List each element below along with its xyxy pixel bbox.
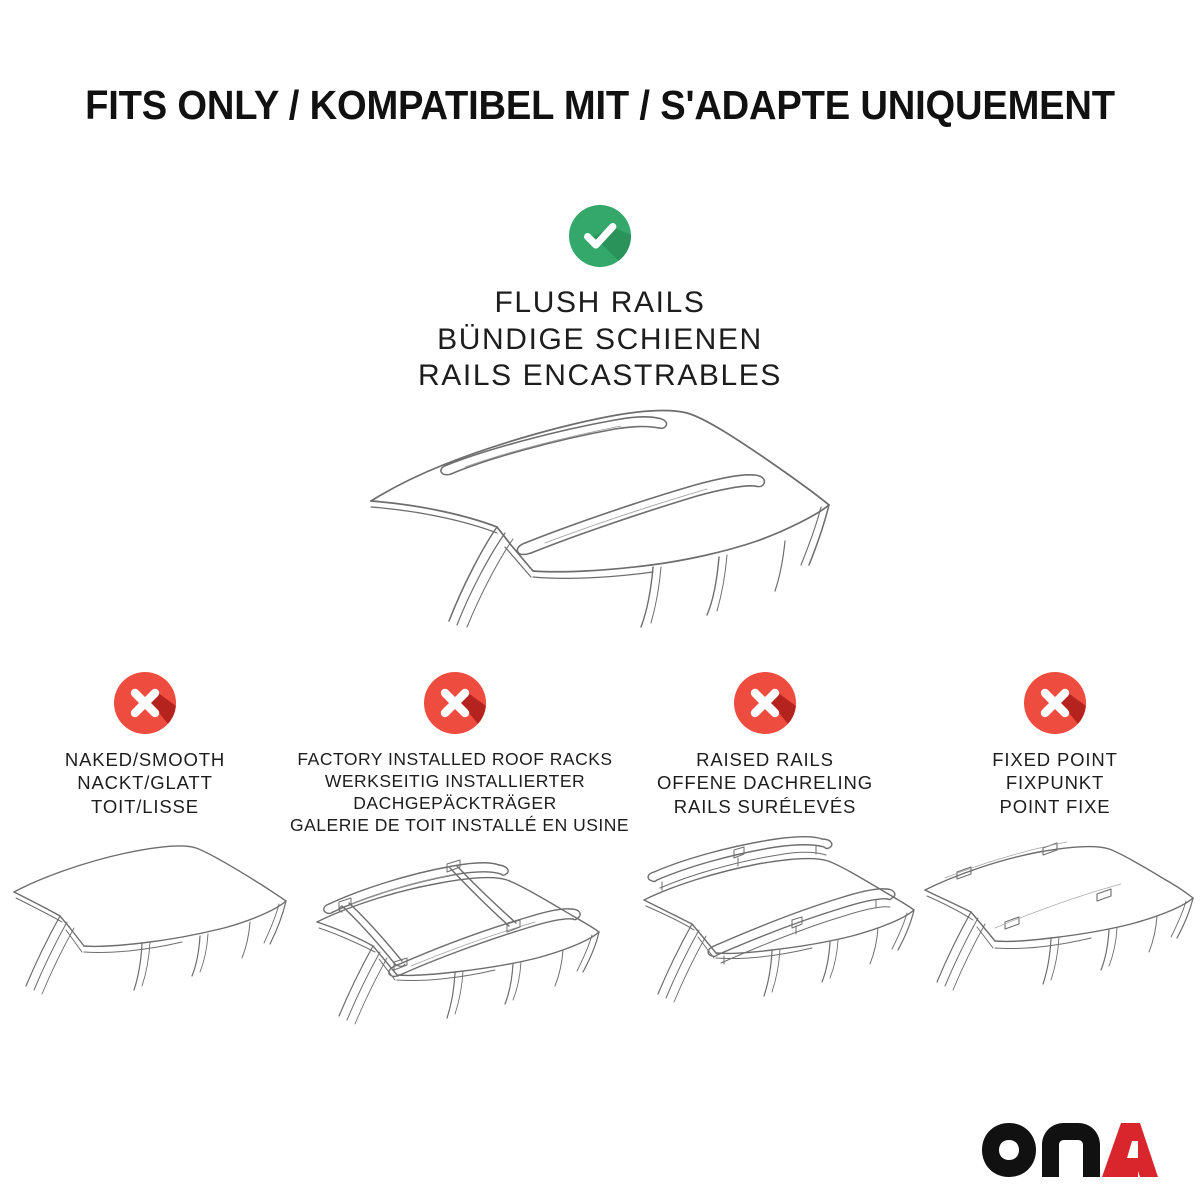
caption-line: DACHGEPÄCKTRÄGER (290, 792, 620, 814)
caption-line: TOIT/LISSE (0, 795, 290, 818)
car-roof-flush-rails-illustration (365, 395, 835, 635)
compatible-section: FLUSH RAILS BÜNDIGE SCHIENEN RAILS ENCAS… (0, 205, 1200, 395)
incompatible-caption-raised-rails: RAISED RAILS OFFENE DACHRELING RAILS SUR… (620, 748, 910, 818)
green-check-circle-icon (569, 205, 631, 267)
compatible-line-3: RAILS ENCASTRABLES (0, 358, 1200, 395)
compatible-line-1: FLUSH RAILS (0, 285, 1200, 322)
incompatible-column-factory-racks: FACTORY INSTALLED ROOF RACKS WERKSEITIG … (290, 672, 620, 1046)
compatible-caption: FLUSH RAILS BÜNDIGE SCHIENEN RAILS ENCAS… (0, 285, 1200, 395)
red-x-circle-icon (424, 672, 486, 734)
caption-line: FACTORY INSTALLED ROOF RACKS (290, 748, 620, 770)
incompatible-caption-factory-racks: FACTORY INSTALLED ROOF RACKS WERKSEITIG … (290, 748, 620, 836)
caption-line: NACKT/GLATT (0, 771, 290, 794)
red-x-circle-icon (1024, 672, 1086, 734)
caption-line: OFFENE DACHRELING (620, 771, 910, 794)
car-roof-fixed-point-illustration (910, 828, 1200, 1028)
red-x-circle-icon (114, 672, 176, 734)
compatible-line-2: BÜNDIGE SCHIENEN (0, 322, 1200, 359)
car-roof-naked-smooth-illustration (0, 828, 290, 1028)
car-roof-raised-rails-illustration (620, 828, 910, 1028)
omac-logo: OMAC (980, 1122, 1158, 1178)
caption-line: RAILS SURÉLEVÉS (620, 795, 910, 818)
caption-line: NAKED/SMOOTH (0, 748, 290, 771)
incompatible-caption-naked-smooth: NAKED/SMOOTH NACKT/GLATT TOIT/LISSE (0, 748, 290, 818)
incompatible-caption-fixed-point: FIXED POINT FIXPUNKT POINT FIXE (910, 748, 1200, 818)
incompatible-section: NAKED/SMOOTH NACKT/GLATT TOIT/LISSE (0, 672, 1200, 1046)
caption-line: RAISED RAILS (620, 748, 910, 771)
incompatible-column-naked-smooth: NAKED/SMOOTH NACKT/GLATT TOIT/LISSE (0, 672, 290, 1028)
incompatible-column-fixed-point: FIXED POINT FIXPUNKT POINT FIXE (910, 672, 1200, 1028)
infographic-page: FITS ONLY / KOMPATIBEL MIT / S'ADAPTE UN… (0, 0, 1200, 1200)
red-x-circle-icon (734, 672, 796, 734)
caption-line: WERKSEITIG INSTALLIERTER (290, 770, 620, 792)
page-title: FITS ONLY / KOMPATIBEL MIT / S'ADAPTE UN… (42, 82, 1158, 129)
caption-line: FIXPUNKT (910, 771, 1200, 794)
caption-line: FIXED POINT (910, 748, 1200, 771)
car-roof-factory-racks-illustration (290, 846, 620, 1046)
caption-line: GALERIE DE TOIT INSTALLÉ EN USINE (290, 814, 620, 836)
incompatible-column-raised-rails: RAISED RAILS OFFENE DACHRELING RAILS SUR… (620, 672, 910, 1028)
caption-line: POINT FIXE (910, 795, 1200, 818)
